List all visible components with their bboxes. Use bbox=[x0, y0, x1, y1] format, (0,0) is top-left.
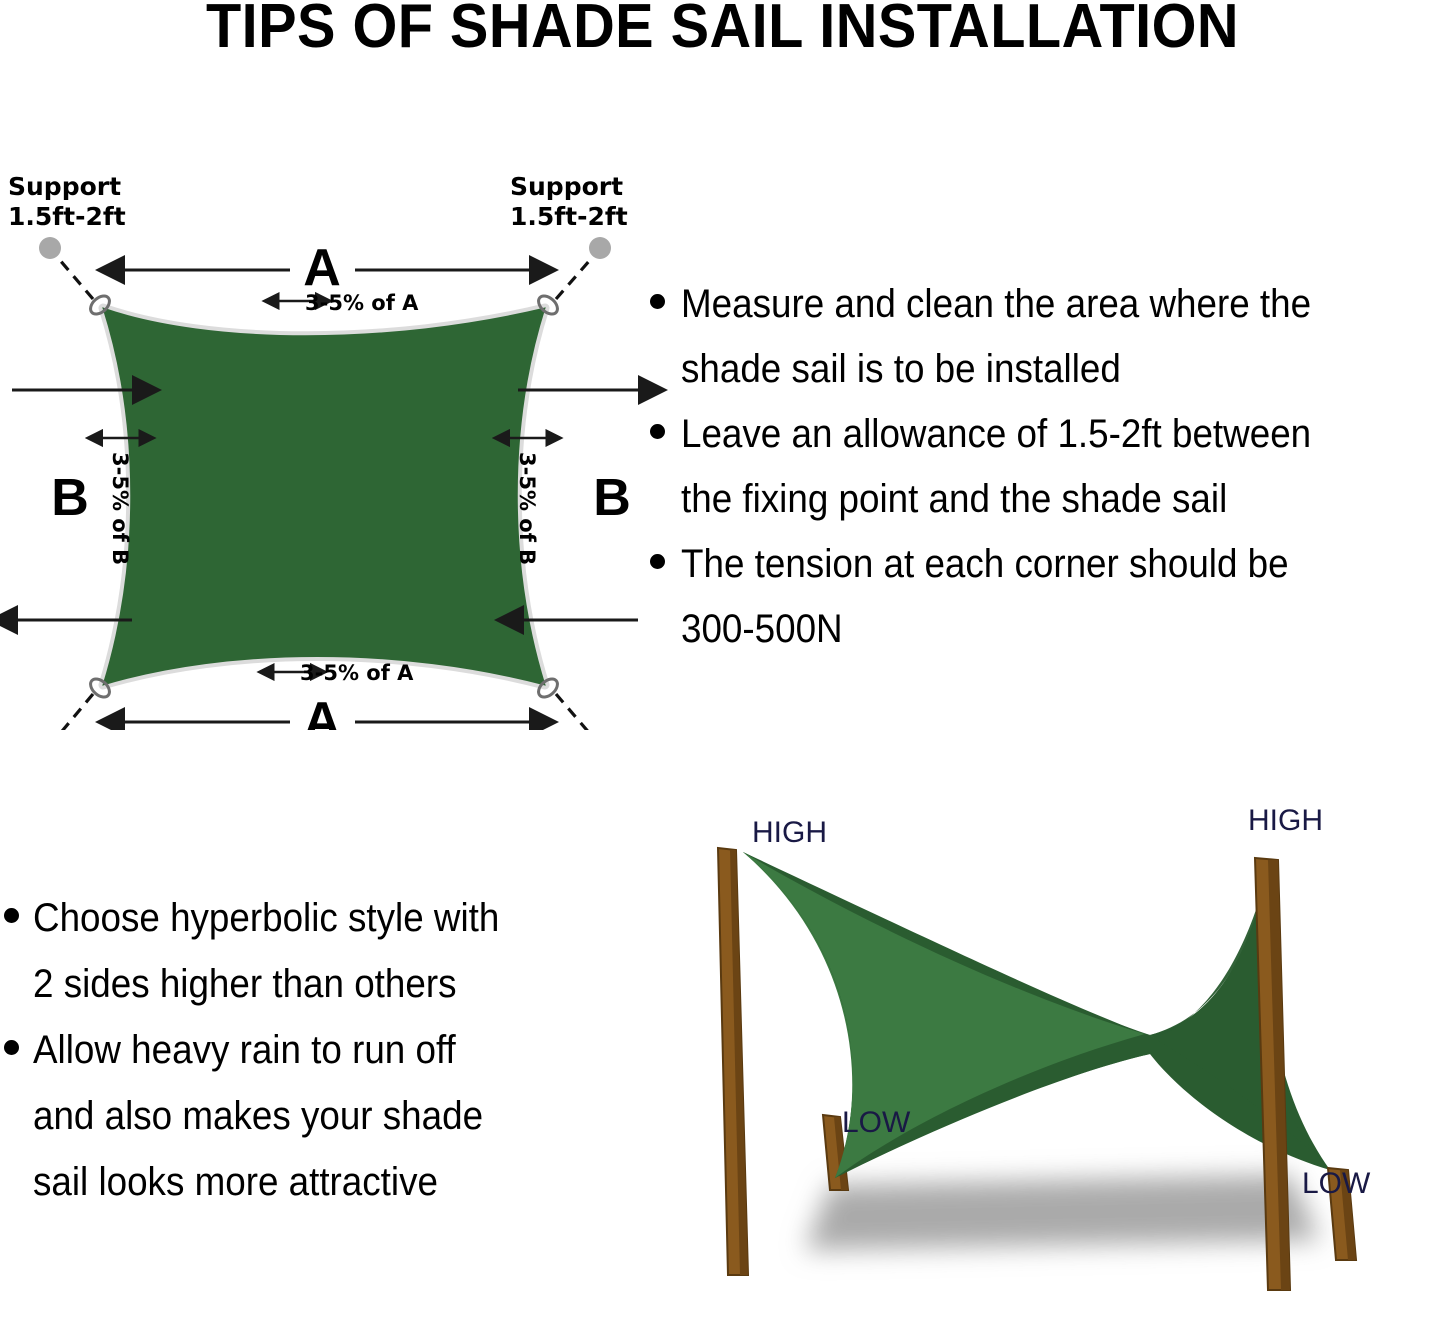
dimension-label-height-right: B bbox=[593, 469, 631, 527]
list-item: Measure and clean the area where the sha… bbox=[650, 272, 1445, 402]
hyperbolic-tips-list: Choose hyperbolic style with 2 sides hig… bbox=[4, 885, 629, 1215]
dimension-label-width-top: A bbox=[303, 239, 341, 297]
rectangular-sail-diagram: Support 1.5ft-2ft Support 1.5ft-2ft Supp… bbox=[0, 160, 680, 730]
sail-shape bbox=[103, 308, 545, 685]
tip-text: Choose hyperbolic style with 2 sides hig… bbox=[33, 885, 499, 1017]
dimension-label-height-left: B bbox=[51, 469, 89, 527]
support-label-line2: 1.5ft-2ft bbox=[8, 202, 126, 231]
bullet-dot-icon bbox=[4, 1040, 19, 1055]
curve-label-left: 3-5% of B bbox=[108, 452, 132, 565]
label-low-left: LOW bbox=[842, 1106, 911, 1139]
bullet-dot-icon bbox=[650, 424, 665, 439]
support-label-line1: Support bbox=[510, 172, 623, 201]
list-item: Leave an allowance of 1.5-2ft between th… bbox=[650, 402, 1445, 532]
installation-tips-list: Measure and clean the area where the sha… bbox=[650, 272, 1445, 662]
support-label-top-left: Support 1.5ft-2ft bbox=[8, 172, 126, 231]
dimension-label-width-bottom: A bbox=[303, 692, 341, 730]
ground-shadow bbox=[805, 1175, 1320, 1250]
tip-text: Allow heavy rain to run off and also mak… bbox=[33, 1017, 483, 1215]
page-title: TIPS OF SHADE SAIL INSTALLATION bbox=[51, 0, 1395, 59]
support-label-line2: 1.5ft-2ft bbox=[510, 202, 628, 231]
list-item: The tension at each corner should be 300… bbox=[650, 532, 1445, 662]
bullet-dot-icon bbox=[650, 554, 665, 569]
curve-label-bottom: 3-5% of A bbox=[300, 661, 414, 685]
post-high-left bbox=[718, 848, 748, 1275]
list-item: Choose hyperbolic style with 2 sides hig… bbox=[4, 885, 629, 1017]
bullet-dot-icon bbox=[650, 294, 665, 309]
support-label-top-right: Support 1.5ft-2ft bbox=[510, 172, 628, 231]
list-item: Allow heavy rain to run off and also mak… bbox=[4, 1017, 629, 1215]
label-high-right: HIGH bbox=[1248, 804, 1323, 837]
label-high-left: HIGH bbox=[752, 816, 827, 849]
hyperbolic-sail-illustration: HIGH HIGH LOW LOW bbox=[630, 770, 1445, 1319]
curve-label-right: 3-5% of B bbox=[515, 452, 539, 565]
bullet-dot-icon bbox=[4, 908, 19, 923]
tip-text: The tension at each corner should be 300… bbox=[681, 532, 1289, 662]
support-label-line1: Support bbox=[8, 172, 121, 201]
tip-text: Leave an allowance of 1.5-2ft between th… bbox=[681, 402, 1311, 532]
curve-label-top: 3-5% of A bbox=[305, 291, 419, 315]
tip-text: Measure and clean the area where the sha… bbox=[681, 272, 1311, 402]
label-low-right: LOW bbox=[1302, 1167, 1371, 1200]
